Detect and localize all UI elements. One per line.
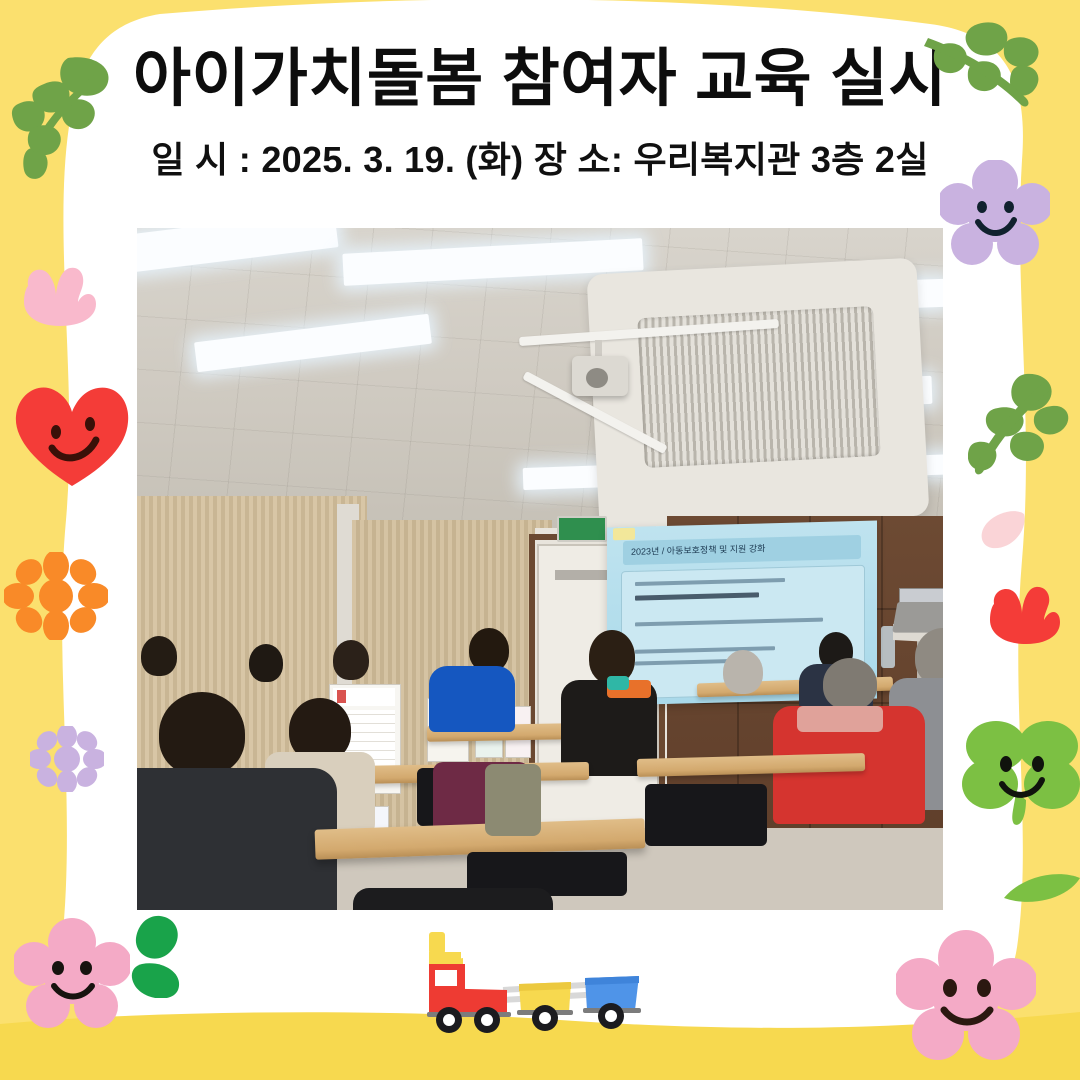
attendee-body — [353, 888, 553, 910]
train-window — [435, 970, 457, 986]
attendee-head — [141, 636, 177, 676]
attendee-head — [249, 644, 283, 682]
clover-smiley-green-right-icon — [962, 718, 1080, 828]
tulip-red-right-icon — [990, 584, 1062, 644]
page-title: 아이가치돌봄 참여자 교육 실시 — [0, 44, 1080, 115]
attendee-body — [429, 666, 515, 732]
attendee-head — [333, 640, 369, 680]
leaf-sprig-mid-right-icon — [968, 370, 1074, 482]
title-block: 아이가치돌봄 참여자 교육 실시 일 시 : 2025. 3. 19. (화) … — [0, 44, 1080, 183]
leaf-sprig-top-right-icon — [922, 20, 1050, 116]
attendee-collar — [797, 706, 883, 732]
petal-pink-right-icon — [980, 510, 1028, 552]
train-chimney — [429, 932, 445, 954]
attendee-head — [723, 650, 763, 694]
train-wheel — [474, 1007, 500, 1033]
leaf-green-right-icon — [1002, 872, 1080, 904]
train-wheel — [598, 1003, 624, 1029]
daisy-orange-left-icon — [4, 552, 108, 640]
event-photo: 2023년 / 아동보호정책 및 지원 강화 — [137, 228, 943, 910]
leaf-green-bottom-left-icon — [122, 912, 192, 998]
tulip-pink-left-icon — [22, 264, 98, 326]
exit-sign — [557, 516, 607, 542]
handbag — [485, 764, 541, 836]
train-wheel — [532, 1005, 558, 1031]
flower-smiley-pink-bottom-right-icon — [896, 930, 1036, 1060]
chair — [645, 784, 767, 846]
projector-lens — [586, 368, 608, 388]
calendar-month-number — [337, 690, 346, 703]
door-sign — [555, 570, 613, 580]
poster-canvas: 아이가치돌봄 참여자 교육 실시 일 시 : 2025. 3. 19. (화) … — [0, 0, 1080, 1080]
flower-smiley-purple-right-icon — [940, 160, 1050, 266]
attendee-body — [137, 768, 337, 910]
attendee-scarf — [607, 676, 629, 690]
flower-smiley-pink-bottom-left-icon — [14, 918, 130, 1028]
event-details: 일 시 : 2025. 3. 19. (화) 장 소: 우리복지관 3층 2실 — [0, 131, 1080, 183]
slide-tag — [613, 528, 635, 541]
daisy-purple-left-icon — [30, 726, 104, 792]
attendee-head — [159, 692, 245, 776]
heart-smiley-left-icon — [14, 382, 130, 490]
train-wheel — [436, 1007, 462, 1033]
train-illustration — [415, 930, 665, 1040]
attendee-head — [823, 658, 877, 710]
leaf-sprig-top-left-icon — [8, 52, 126, 182]
slide-heading-text: 2023년 / 아동보호정책 및 지원 강화 — [631, 541, 765, 558]
